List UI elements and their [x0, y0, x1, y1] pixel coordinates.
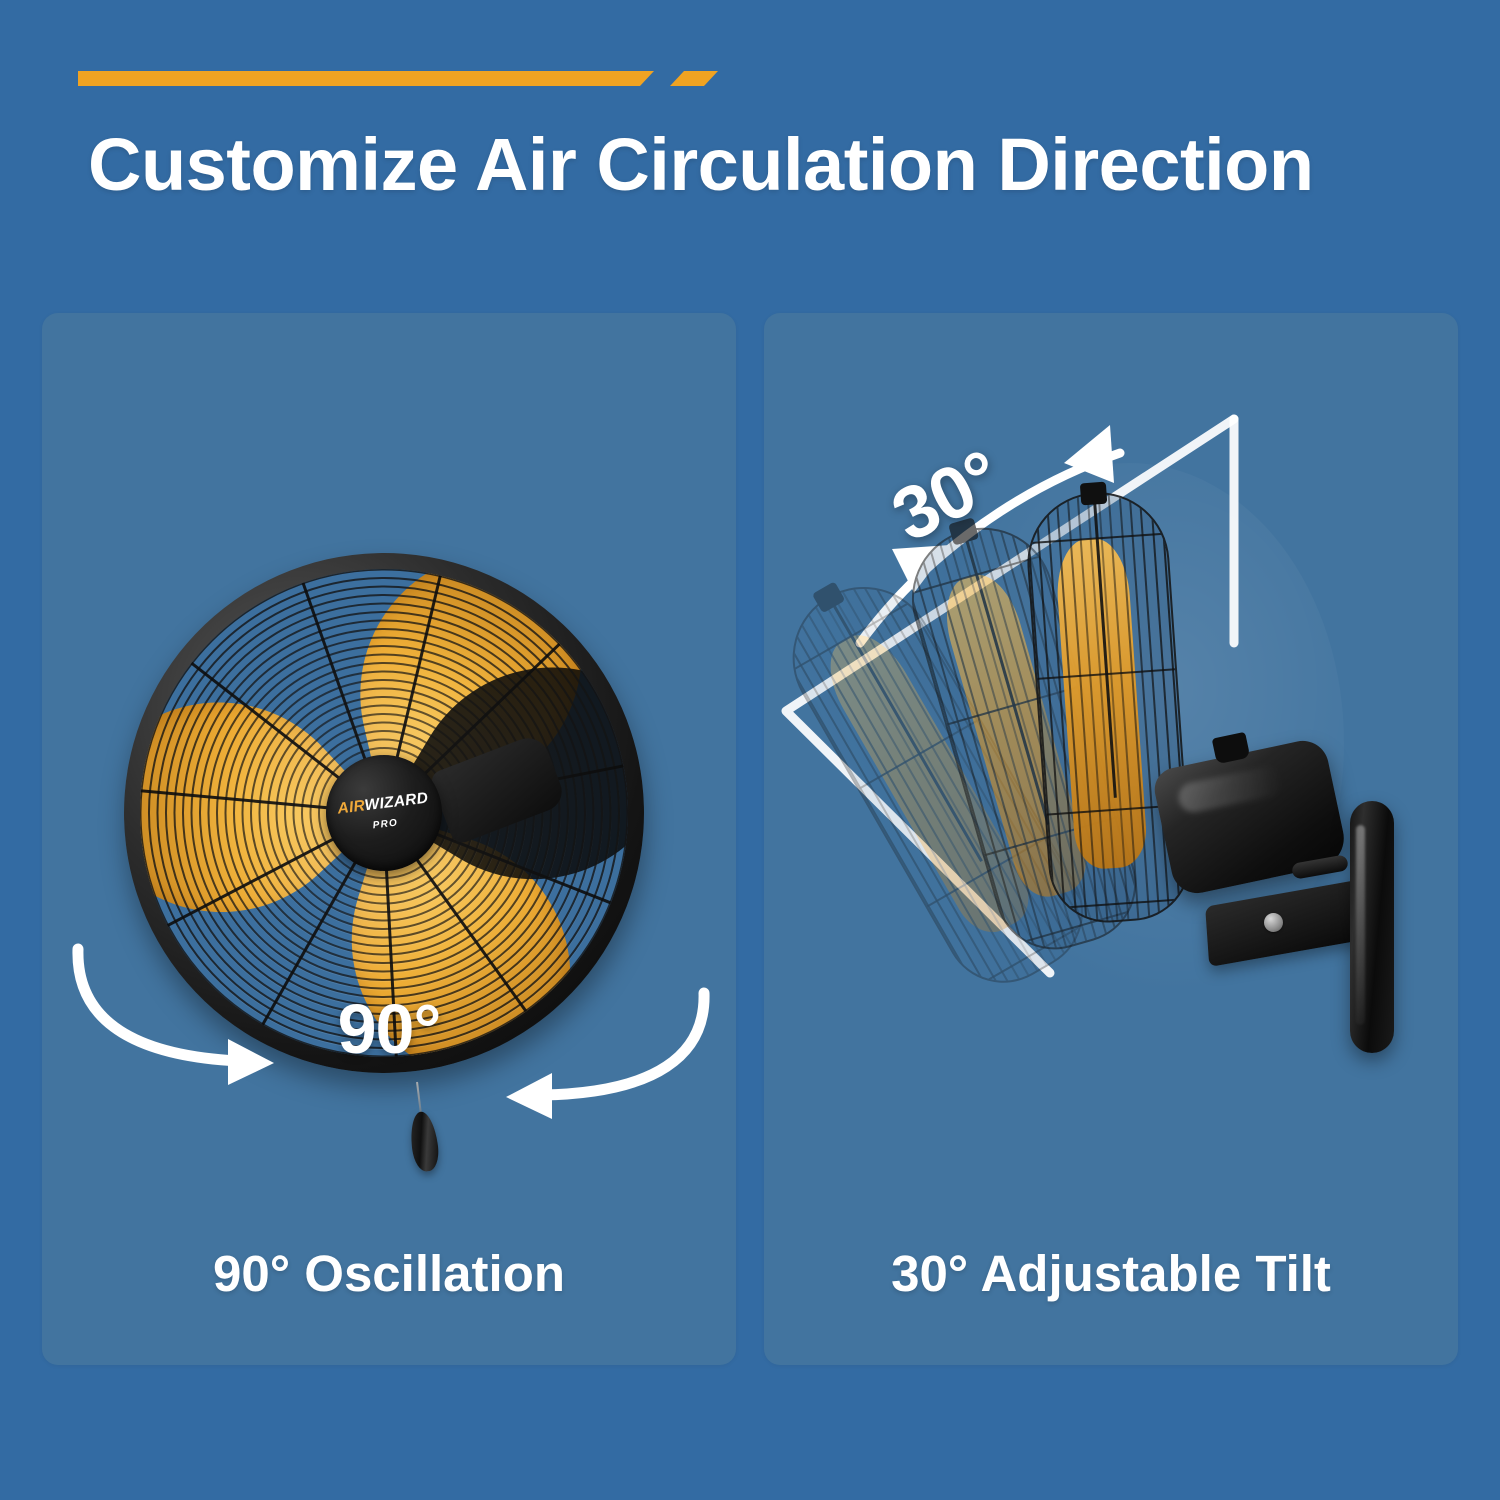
caption-oscillation: 90° Oscillation	[42, 1244, 736, 1303]
pull-chain-handle[interactable]	[408, 1110, 441, 1173]
oscillation-degree-label: 90°	[338, 989, 441, 1069]
tilt-illustration: 30°	[764, 313, 1458, 1233]
oscillation-illustration: AIRWIZARD PRO 90°	[42, 313, 736, 1213]
accent-bar-long	[78, 71, 654, 86]
page-title: Customize Air Circulation Direction	[88, 122, 1314, 207]
motor-and-wall-mount	[1142, 717, 1442, 1047]
wall-plate-highlight	[1356, 825, 1365, 1025]
brand-pro: PRO	[372, 817, 398, 831]
mount-bracket-bolt	[1264, 913, 1283, 932]
panel-oscillation: AIRWIZARD PRO 90° 90° Oscillation	[42, 313, 736, 1365]
brand-wordmark: AIRWIZARD	[337, 791, 429, 817]
header: Customize Air Circulation Direction	[0, 0, 1500, 300]
accent-rule	[78, 68, 718, 90]
brand-wizard: WIZARD	[364, 790, 429, 815]
accent-bar-dash	[670, 71, 718, 86]
caption-tilt: 30° Adjustable Tilt	[764, 1244, 1458, 1303]
panel-tilt: 30° 30° Adjustable Tilt	[764, 313, 1458, 1365]
mount-bracket-arm	[1205, 879, 1367, 967]
brand-air: AIR	[337, 798, 366, 818]
